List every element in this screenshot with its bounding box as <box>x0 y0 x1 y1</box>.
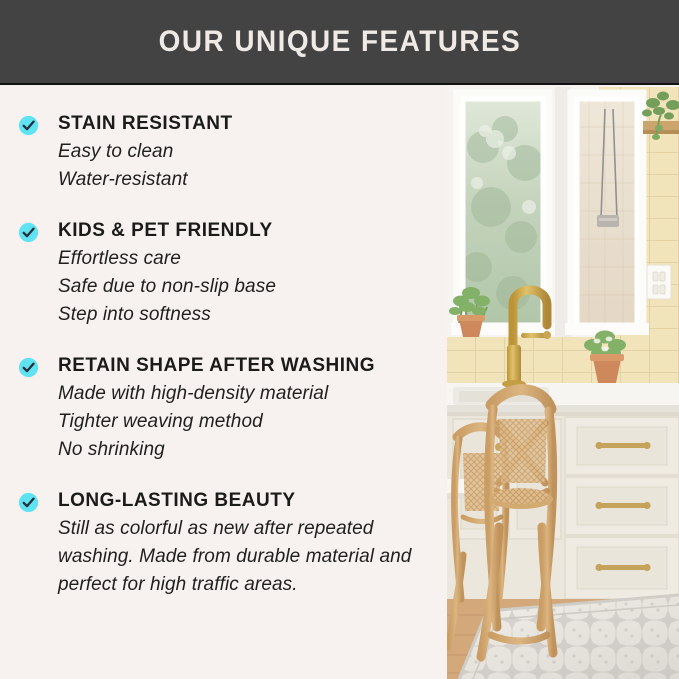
feature-line: Easy to clean <box>58 138 439 166</box>
feature-line: Water-resistant <box>58 166 439 194</box>
page-title: OUR UNIQUE FEATURES <box>158 25 521 59</box>
feature-title: STAIN RESISTANT <box>58 113 439 134</box>
feature-title: RETAIN SHAPE AFTER WASHING <box>58 355 439 376</box>
check-circle-icon <box>18 115 39 136</box>
feature-line: Effortless care <box>58 245 439 273</box>
feature-lines: Made with high-density material Tighter … <box>58 380 439 464</box>
feature-line: Safe due to non-slip base <box>58 273 439 301</box>
feature-line: No shrinking <box>58 436 439 464</box>
product-feature-infographic: OUR UNIQUE FEATURES STAIN RESISTANT Easy… <box>0 0 679 679</box>
feature-line: Still as colorful as new after repeated … <box>58 515 439 599</box>
feature-lines: Still as colorful as new after repeated … <box>58 515 439 599</box>
check-circle-icon <box>18 222 39 243</box>
check-circle-icon <box>18 492 39 513</box>
feature-lines: Effortless care Safe due to non-slip bas… <box>58 245 439 329</box>
feature-line: Made with high-density material <box>58 380 439 408</box>
header-banner: OUR UNIQUE FEATURES <box>0 0 679 85</box>
feature-line: Step into softness <box>58 301 439 329</box>
feature-line: Tighter weaving method <box>58 408 439 436</box>
feature-item: KIDS & PET FRIENDLY Effortless care Safe… <box>18 220 439 329</box>
feature-list: STAIN RESISTANT Easy to clean Water-resi… <box>0 87 447 679</box>
check-circle-icon <box>18 357 39 378</box>
kitchen-lifestyle-photo <box>447 87 679 679</box>
feature-item: RETAIN SHAPE AFTER WASHING Made with hig… <box>18 355 439 464</box>
feature-title: LONG-LASTING BEAUTY <box>58 490 439 511</box>
feature-item: LONG-LASTING BEAUTY Still as colorful as… <box>18 490 439 599</box>
feature-lines: Easy to clean Water-resistant <box>58 138 439 194</box>
feature-title: KIDS & PET FRIENDLY <box>58 220 439 241</box>
feature-item: STAIN RESISTANT Easy to clean Water-resi… <box>18 113 439 194</box>
